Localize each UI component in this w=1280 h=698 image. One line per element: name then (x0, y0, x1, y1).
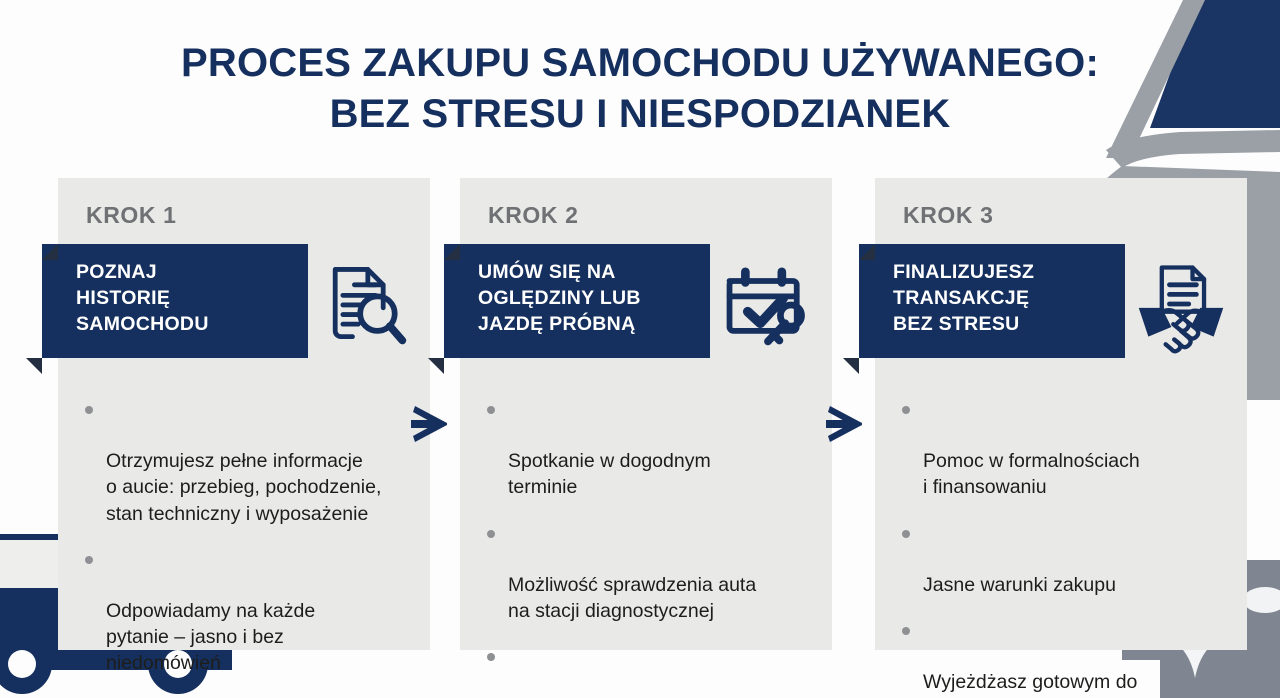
calendar-check-key-icon (718, 254, 814, 354)
arrow-right-icon (409, 400, 451, 448)
banner-fold-bottom-2 (428, 358, 444, 374)
step-card-1[interactable]: KROK 1 POZNAJ HISTORIĘ SAMOCHODU (58, 178, 430, 650)
step-label-1: KROK 1 (86, 202, 177, 229)
list-item: Rzetelna rozmowa w przyjaznej atmosferze (482, 643, 818, 698)
bullet-dot-icon (85, 556, 93, 564)
banner-fold-bottom-1 (26, 358, 42, 374)
handshake-document-icon (1133, 254, 1229, 354)
arrow-right-icon (824, 400, 866, 448)
bullet-dot-icon (487, 653, 495, 661)
list-item: Jasne warunki zakupu (897, 520, 1233, 598)
list-item: Pomoc w formalnościach i finansowaniu (897, 396, 1233, 501)
page-title: PROCES ZAKUPU SAMOCHODU UŻYWANEGO: BEZ S… (0, 38, 1280, 140)
bullet-list-1: Otrzymujesz pełne informacje o aucie: pr… (80, 396, 416, 698)
banner-fold-top-1 (42, 244, 58, 260)
banner-fold-top-2 (444, 244, 460, 260)
bullet-dot-icon (487, 530, 495, 538)
step-heading-1: POZNAJ HISTORIĘ SAMOCHODU (76, 260, 294, 338)
list-item: Otrzymujesz pełne informacje o aucie: pr… (80, 396, 416, 527)
step-label-3: KROK 3 (903, 202, 994, 229)
infographic-canvas: PROCES ZAKUPU SAMOCHODU UŻYWANEGO: BEZ S… (0, 0, 1280, 698)
title-line-2: BEZ STRESU I NIESPODZIANEK (0, 89, 1280, 140)
step-banner-1: POZNAJ HISTORIĘ SAMOCHODU (42, 244, 308, 358)
list-item: Odpowiadamy na każde pytanie – jasno i b… (80, 546, 416, 677)
step-banner-3: FINALIZUJESZ TRANSAKCJĘ BEZ STRESU (859, 244, 1125, 358)
bullet-text: Odpowiadamy na każde pytanie – jasno i b… (106, 600, 315, 674)
bullet-text: Możliwość sprawdzenia auta na stacji dia… (508, 574, 756, 622)
list-item: Możliwość sprawdzenia auta na stacji dia… (482, 520, 818, 625)
list-item: Spotkanie w dogodnym terminie (482, 396, 818, 501)
bullet-dot-icon (902, 530, 910, 538)
bullet-list-2: Spotkanie w dogodnym terminie Możliwość … (482, 396, 818, 698)
list-item: Wyjeżdżasz gotowym do jazdy samochodem (897, 617, 1233, 698)
title-line-1: PROCES ZAKUPU SAMOCHODU UŻYWANEGO: (0, 38, 1280, 89)
step-heading-3: FINALIZUJESZ TRANSAKCJĘ BEZ STRESU (893, 260, 1111, 338)
bullet-text: Jasne warunki zakupu (923, 574, 1116, 596)
step-card-2[interactable]: KROK 2 UMÓW SIĘ NA OGLĘDZINY LUB JAZDĘ P… (460, 178, 832, 650)
bullet-text: Wyjeżdżasz gotowym do jazdy samochodem (923, 671, 1137, 698)
document-magnifier-icon (316, 254, 412, 354)
bullet-text: Pomoc w formalnościach i finansowaniu (923, 450, 1140, 498)
bullet-text: Spotkanie w dogodnym terminie (508, 450, 711, 498)
bullet-dot-icon (85, 406, 93, 414)
bullet-dot-icon (902, 406, 910, 414)
step-card-3[interactable]: KROK 3 FINALIZUJESZ TRANSAKCJĘ BEZ STRES… (875, 178, 1247, 650)
bullet-dot-icon (902, 627, 910, 635)
banner-fold-top-3 (859, 244, 875, 260)
step-label-2: KROK 2 (488, 202, 579, 229)
bullet-text: Otrzymujesz pełne informacje o aucie: pr… (106, 450, 381, 524)
car-headlight (1243, 587, 1280, 613)
bullet-dot-icon (487, 406, 495, 414)
step-banner-2: UMÓW SIĘ NA OGLĘDZINY LUB JAZDĘ PRÓBNĄ (444, 244, 710, 358)
step-heading-2: UMÓW SIĘ NA OGLĘDZINY LUB JAZDĘ PRÓBNĄ (478, 260, 696, 338)
bullet-list-3: Pomoc w formalnościach i finansowaniu Ja… (897, 396, 1233, 698)
banner-fold-bottom-3 (843, 358, 859, 374)
